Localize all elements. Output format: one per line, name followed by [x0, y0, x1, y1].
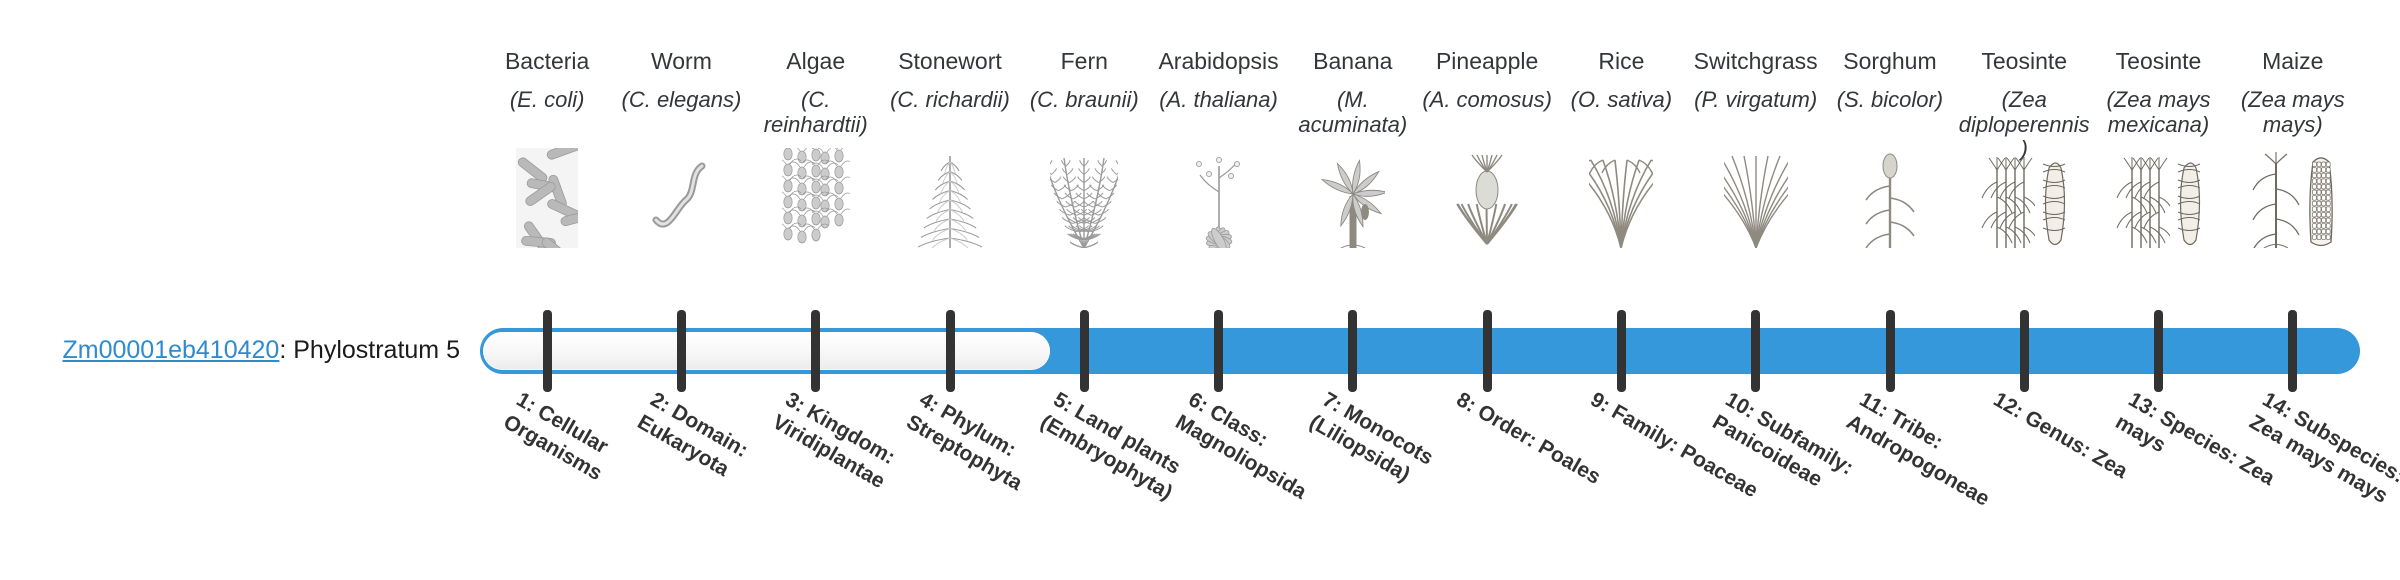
gene-id-link[interactable]: Zm00001eb410420 [62, 336, 279, 364]
species-scientific-name: (P. virgatum) [1689, 88, 1823, 144]
species-column: Rice(O. sativa) [1554, 48, 1688, 298]
maize-plant-and-cob-illustration [2226, 148, 2360, 248]
species-columns: Bacteria(E. coli)Worm(C. elegans)Algae(C… [480, 48, 2360, 298]
species-scientific-name: (C. reinhardtii) [749, 88, 883, 144]
rank-text: Genus: Zea [2021, 406, 2132, 483]
species-column: Arabidopsis(A. thaliana) [1151, 48, 1285, 298]
species-column: Teosinte(Zea mays mexicana) [2091, 48, 2225, 298]
rank-number: 9: [1587, 388, 1615, 417]
species-column: Stonewort(C. richardii) [883, 48, 1017, 298]
species-column: Banana(M. acuminata) [1286, 48, 1420, 298]
nematode-worm-illustration [614, 148, 748, 248]
species-scientific-name: (S. bicolor) [1823, 88, 1957, 144]
rank-number: 8: [1453, 388, 1481, 417]
fern-frond-illustration [1017, 148, 1151, 248]
progress-bar-unfilled-region [483, 332, 1050, 370]
switchgrass-illustration [1689, 148, 1823, 248]
phylostratum-value: Phylostratum 5 [293, 336, 460, 364]
gene-caption-separator: : [279, 336, 293, 364]
species-common-name: Rice [1598, 48, 1644, 78]
rank-number: 5: [1050, 388, 1078, 417]
species-scientific-name: (C. elegans) [614, 88, 748, 144]
species-column: Worm(C. elegans) [614, 48, 748, 298]
species-common-name: Sorghum [1843, 48, 1936, 78]
species-common-name: Stonewort [898, 48, 1002, 78]
species-common-name: Banana [1313, 48, 1392, 78]
species-scientific-name: (M. acuminata) [1286, 88, 1420, 144]
species-column: Fern(C. braunii) [1017, 48, 1151, 298]
species-common-name: Worm [651, 48, 712, 78]
species-scientific-name: (O. sativa) [1554, 88, 1688, 144]
species-common-name: Fern [1061, 48, 1108, 78]
species-column: Switchgrass(P. virgatum) [1689, 48, 1823, 298]
species-common-name: Teosinte [1981, 48, 2067, 78]
species-common-name: Arabidopsis [1158, 48, 1278, 78]
species-scientific-name: (A. thaliana) [1151, 88, 1285, 144]
species-column: Maize(Zea mays mays) [2226, 48, 2360, 298]
bacteria-rods-illustration [480, 148, 614, 248]
species-common-name: Teosinte [2116, 48, 2202, 78]
species-scientific-name: (C. braunii) [1017, 88, 1151, 144]
species-scientific-name: (C. richardii) [883, 88, 1017, 144]
rank-number: 2: [647, 388, 675, 417]
rank-labels: 1: Cellular Organisms2: Domain: Eukaryot… [480, 400, 2360, 580]
species-column: Bacteria(E. coli) [480, 48, 614, 298]
species-column: Sorghum(S. bicolor) [1823, 48, 1957, 298]
banana-tree-illustration [1286, 148, 1420, 248]
species-scientific-name: (Zea mays mexicana) [2091, 88, 2225, 144]
arabidopsis-plant-illustration [1151, 148, 1285, 248]
rank-text: Order: Poales [1474, 400, 1605, 489]
species-scientific-name: (Zea diploperennis) [1957, 88, 2091, 144]
rank-text: Cellular Organisms [500, 400, 612, 485]
species-column: Teosinte(Zea diploperennis) [1957, 48, 2091, 298]
species-scientific-name: (E. coli) [480, 88, 614, 144]
phylostratum-progress-bar [480, 328, 2360, 374]
species-common-name: Algae [786, 48, 845, 78]
pineapple-plant-illustration [1420, 148, 1554, 248]
rice-plant-illustration [1554, 148, 1688, 248]
algae-cells-illustration [749, 148, 883, 248]
stonewort-illustration [883, 148, 1017, 248]
species-common-name: Maize [2262, 48, 2323, 78]
species-column: Algae(C. reinhardtii) [749, 48, 883, 298]
phylostratum-figure: Zm00001eb410420: Phylostratum 5 Bacteria… [0, 0, 2400, 580]
species-common-name: Pineapple [1436, 48, 1538, 78]
rank-number: 12: [1990, 388, 2028, 423]
species-scientific-name: (A. comosus) [1420, 88, 1554, 144]
teosinte-plant-and-ear-illustration [2091, 148, 2225, 248]
sorghum-plant-illustration [1823, 148, 1957, 248]
species-scientific-name: (Zea mays mays) [2226, 88, 2360, 144]
species-common-name: Switchgrass [1694, 48, 1818, 78]
species-column: Pineapple(A. comosus) [1420, 48, 1554, 298]
species-common-name: Bacteria [505, 48, 589, 78]
gene-caption: Zm00001eb410420: Phylostratum 5 [40, 336, 460, 365]
teosinte-plant-and-ear-illustration [1957, 148, 2091, 248]
